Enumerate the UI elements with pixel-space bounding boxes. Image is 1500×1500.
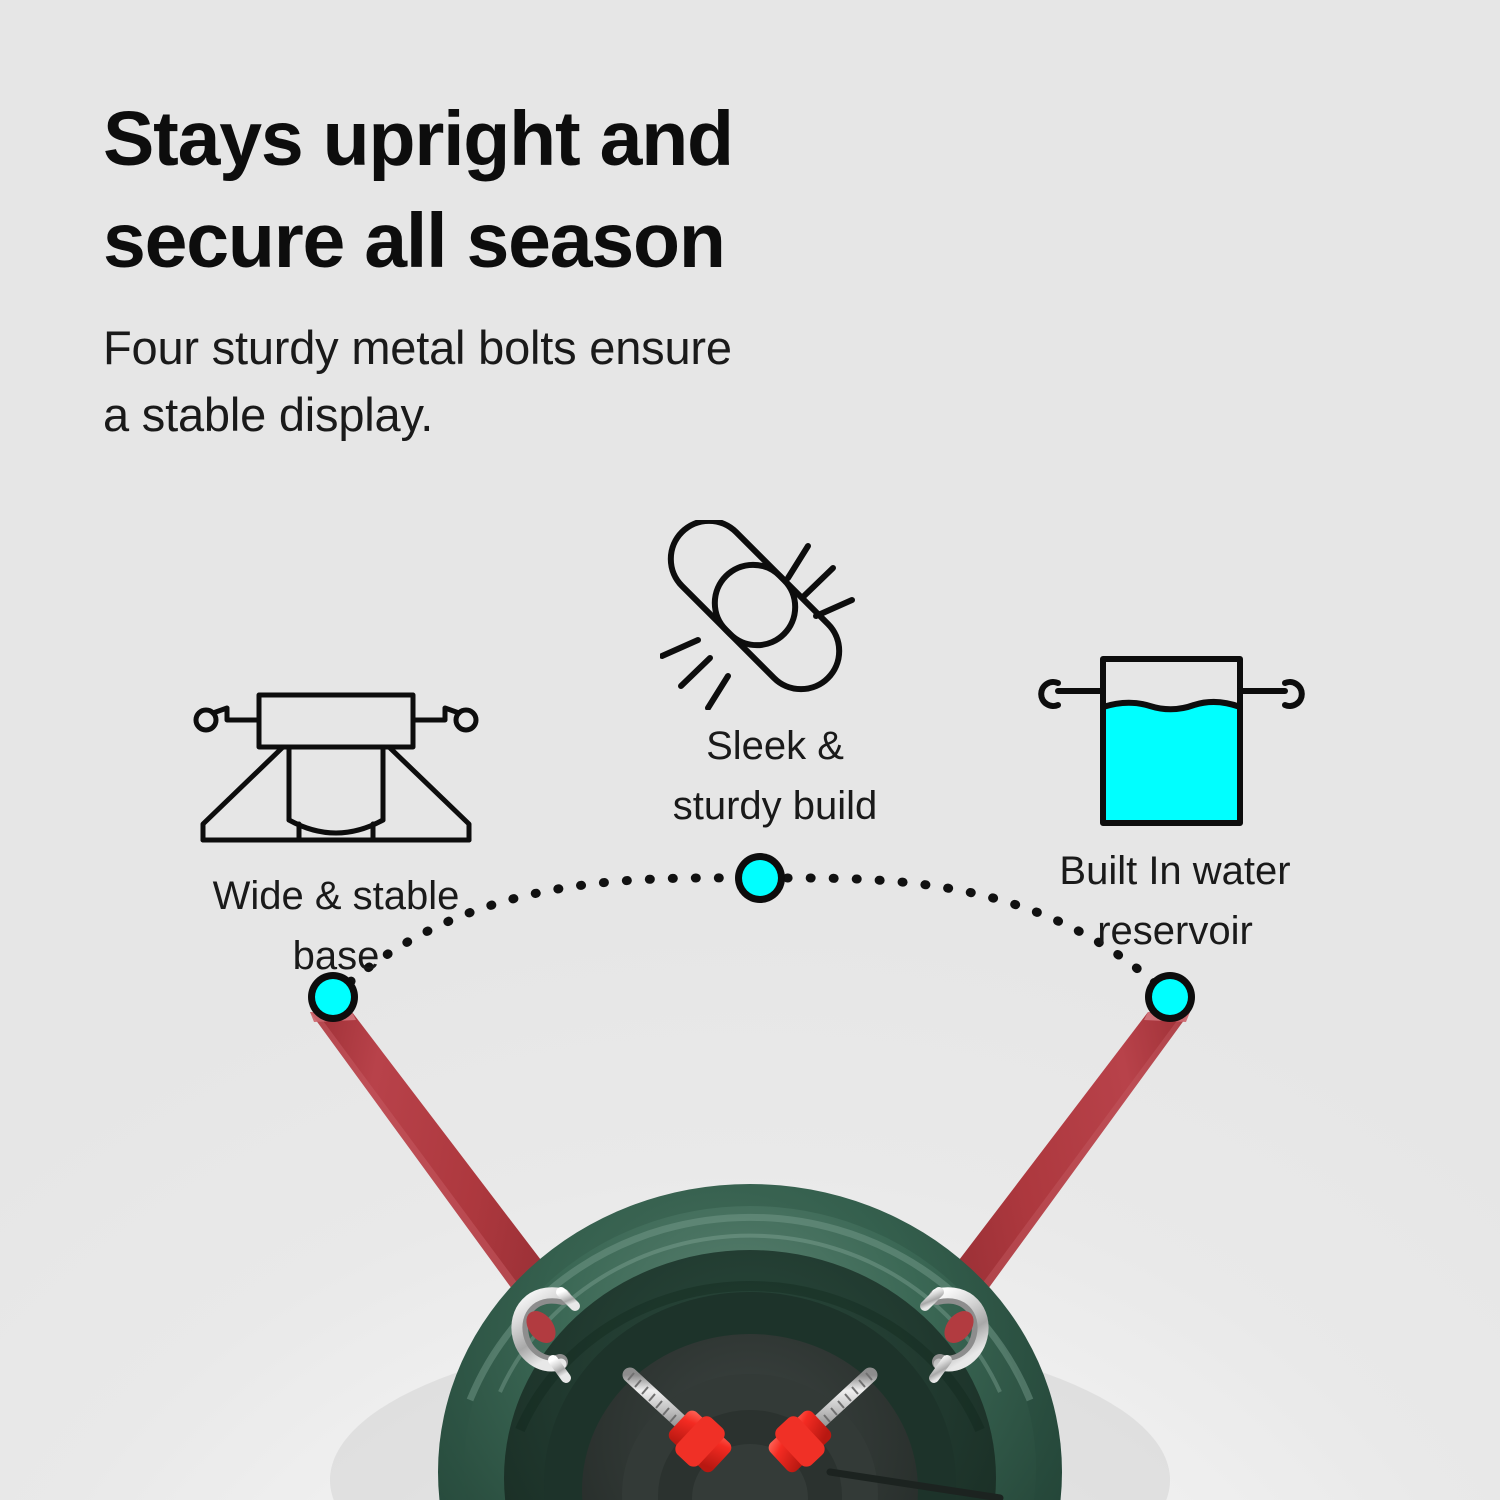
shiny-bolt-icon: [660, 520, 890, 710]
tree-stand-base-icon: [191, 690, 481, 860]
water-reservoir-icon: [1030, 655, 1320, 835]
feature-sleek-sturdy-build: Sleek & sturdy build: [585, 520, 965, 836]
page-subtitle: Four sturdy metal bolts ensure a stable …: [103, 315, 1003, 448]
feature-caption: Sleek & sturdy build: [585, 716, 965, 836]
feature-water-reservoir: Built In water reservoir: [1000, 655, 1350, 961]
page-title: Stays upright and secure all season: [103, 88, 1003, 293]
feature-caption: Built In water reservoir: [1000, 841, 1350, 961]
promo-graphic: Stays upright and secure all season Four…: [0, 0, 1500, 1500]
feature-icon-wrap: [585, 520, 965, 710]
feature-caption: Wide & stable base: [156, 866, 516, 986]
header-block: Stays upright and secure all season Four…: [103, 88, 1003, 448]
product-base-bowl: [438, 1184, 1062, 1500]
feature-icon-wrap: [1000, 655, 1350, 835]
feature-wide-stable-base: Wide & stable base: [156, 690, 516, 986]
feature-icon-wrap: [156, 690, 516, 860]
water-fill: [1103, 702, 1240, 823]
